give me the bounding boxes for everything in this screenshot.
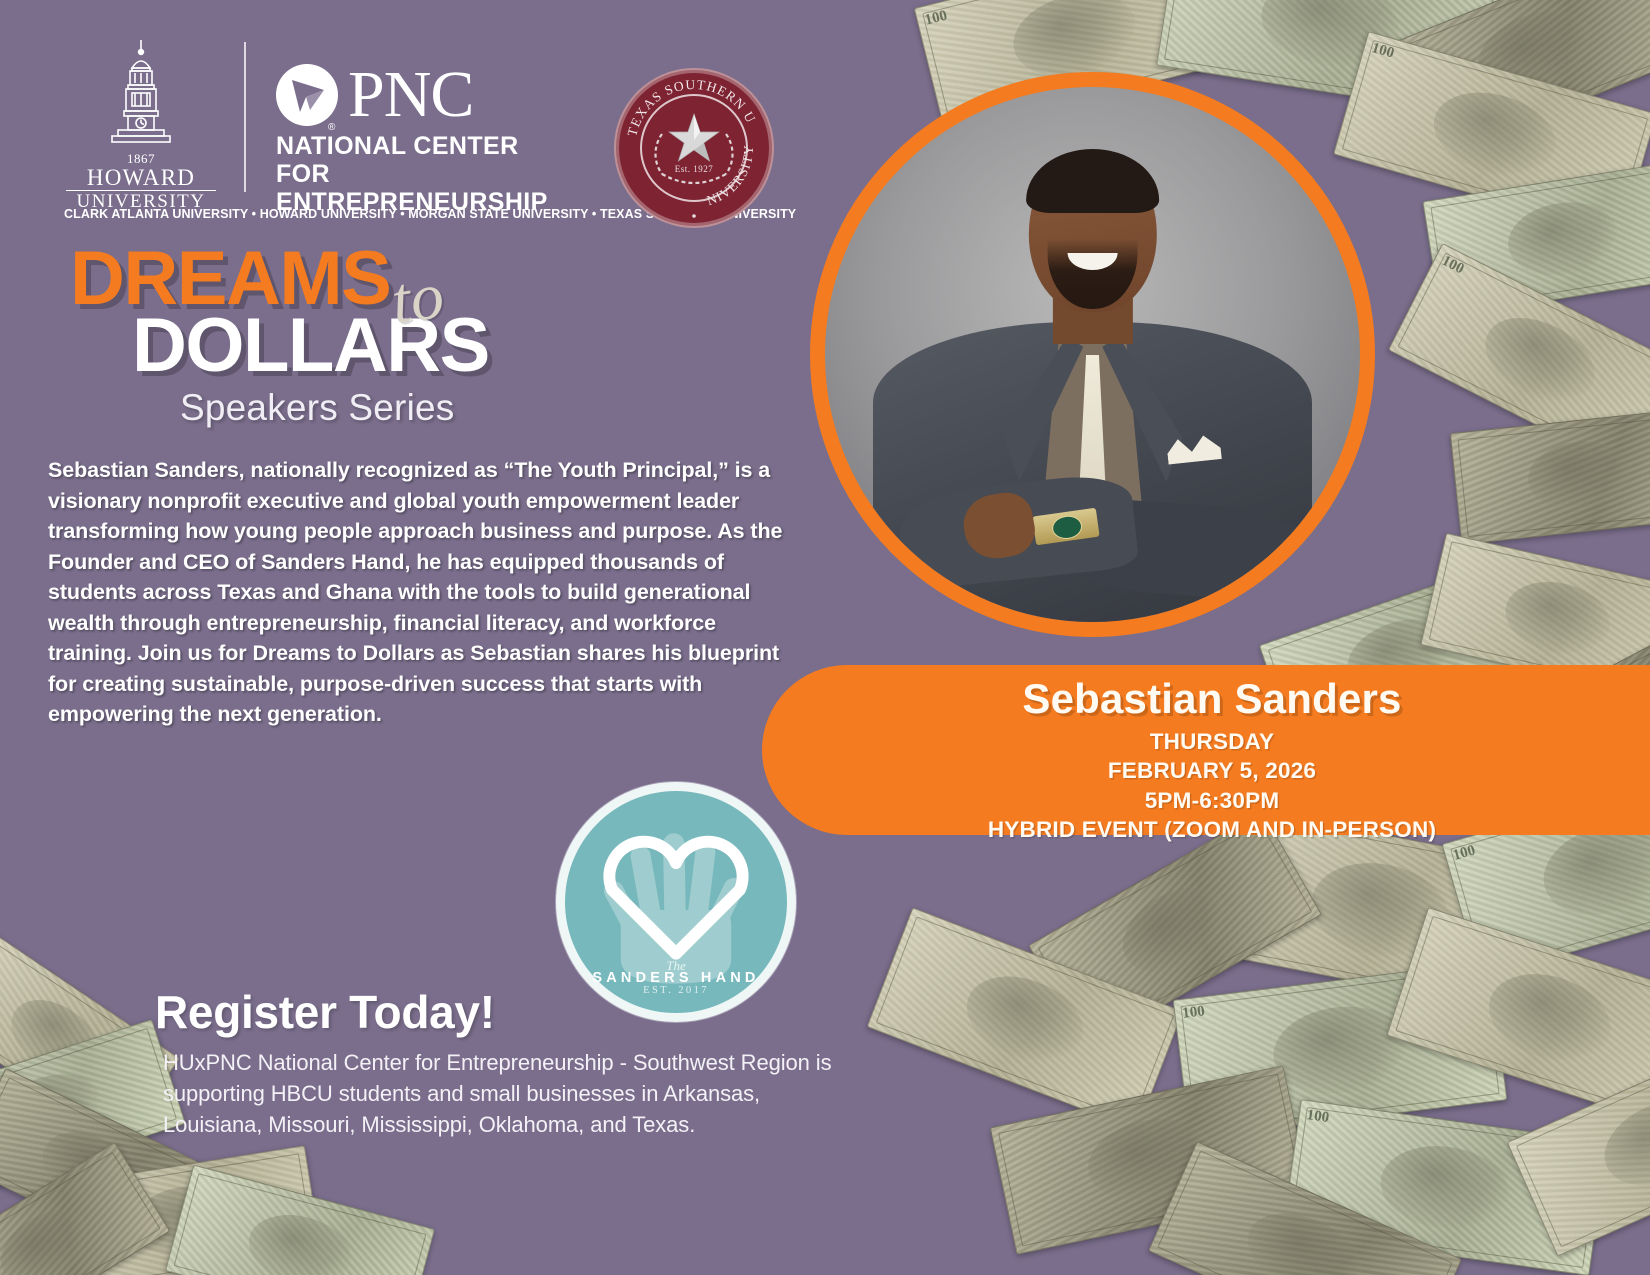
howard-university-logo: 1867 HOWARD UNIVERSITY [66, 38, 216, 218]
pnc-logo: ® PNC NATIONAL CENTER FOR ENTREPRENEURSH… [276, 64, 606, 216]
dollar-bill: 100 [1377, 0, 1650, 165]
pnc-subtitle-line1: NATIONAL CENTER [276, 132, 606, 160]
howard-university-name: HOWARD UNIVERSITY [66, 166, 216, 211]
event-date: FEBRUARY 5, 2026 [762, 756, 1650, 785]
title-subtitle: Speakers Series [180, 387, 590, 429]
footer-note: HUxPNC National Center for Entrepreneurs… [163, 1048, 863, 1140]
dollar-bill: 100 [867, 907, 1184, 1130]
dollar-bill: 100 [1333, 31, 1650, 237]
dollar-bill: 100 [1282, 1099, 1608, 1275]
dollar-bill [990, 1065, 1310, 1255]
dollar-bill [1148, 1141, 1462, 1275]
heart-icon [596, 829, 756, 962]
tsu-established-year: Est. 1927 [614, 164, 774, 174]
speaker-bio: Sebastian Sanders, nationally recognized… [48, 455, 788, 730]
logo-divider [244, 42, 246, 192]
speaker-portrait [810, 72, 1375, 637]
dollar-bill: 100 [1422, 160, 1650, 318]
speaker-name: Sebastian Sanders [762, 675, 1650, 723]
dollar-bill [0, 1142, 170, 1275]
event-details-banner: Sebastian Sanders THURSDAY FEBRUARY 5, 2… [762, 665, 1650, 835]
title-word-dollars: DOLLARS [132, 310, 590, 383]
dollar-bill: 100 [1173, 961, 1508, 1139]
pnc-registered-mark: ® [328, 122, 335, 133]
dollar-bill: 100 [1386, 907, 1650, 1128]
dollar-bill: 100 [1388, 243, 1650, 477]
event-time: 5PM-6:30PM [762, 786, 1650, 815]
pnc-wordmark: PNC [348, 65, 473, 126]
register-heading: Register Today! [155, 985, 495, 1039]
dollar-bill [1028, 811, 1322, 1050]
dollar-bill: 50 [48, 1145, 322, 1275]
sanders-hand-logo: The SANDERS HAND EST. 2017 [556, 782, 796, 1022]
dollar-bill [0, 930, 180, 1146]
partner-logos: 1867 HOWARD UNIVERSITY ® PNC [58, 34, 758, 224]
pnc-subtitle: NATIONAL CENTER FOR ENTREPRENEURSHIP [276, 132, 606, 216]
title-connector-to: to [387, 258, 448, 340]
sanders-hand-est: EST. 2017 [565, 985, 787, 996]
pnc-arrow-icon: ® [276, 64, 338, 126]
event-flyer: 100100 100 100 100 100 100 100 100100 10… [0, 0, 1650, 1275]
texas-southern-seal-icon: TEXAS SOUTHERN U NIVERSITY Est. 1927 [614, 68, 774, 228]
event-day: THURSDAY [762, 727, 1650, 756]
dollar-bill [1507, 1028, 1650, 1256]
howard-name-line1: HOWARD [87, 165, 195, 190]
dollar-bill [1450, 407, 1650, 545]
dollar-bill: 50 [0, 1019, 186, 1201]
howard-tower-icon [102, 38, 180, 150]
sanders-hand-name: SANDERS HAND [565, 970, 787, 986]
dollar-bill [165, 1165, 435, 1275]
pnc-wordmark-row: ® PNC [276, 64, 606, 126]
event-format: HYBRID EVENT (ZOOM AND IN-PERSON) [762, 815, 1650, 844]
page-title: DREAMS to DOLLARS Speakers Series [70, 243, 590, 429]
